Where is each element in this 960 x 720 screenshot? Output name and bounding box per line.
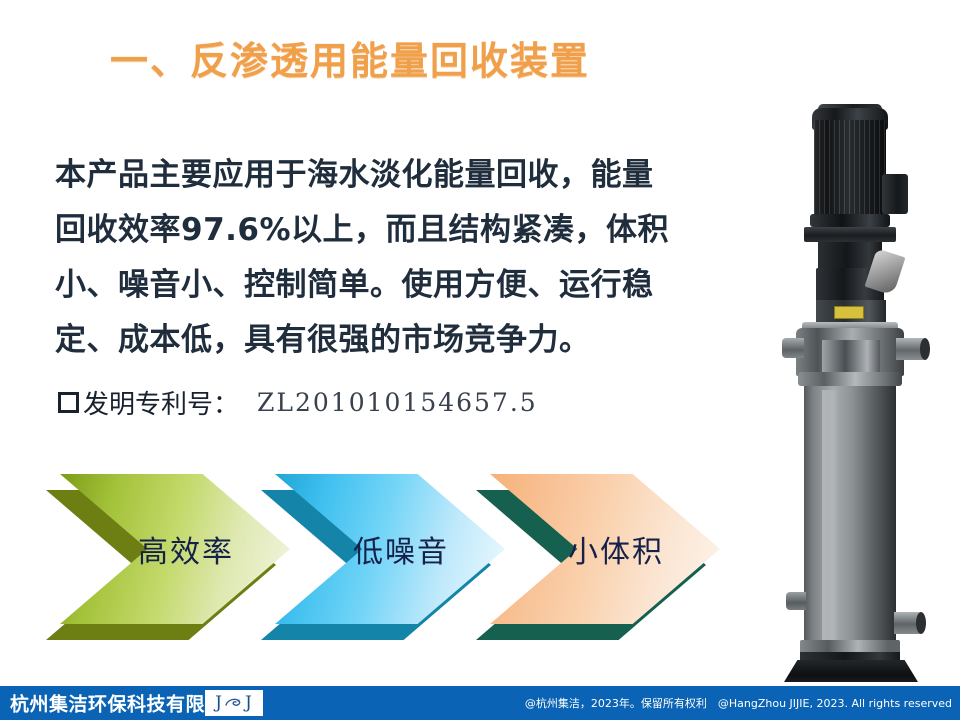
chevron-label: 小体积 — [568, 527, 664, 571]
footer-copyright: @杭州集洁，2023年。保留所有权利 @HangZhou JIJIE, 2023… — [525, 695, 952, 711]
page-title: 一、反渗透用能量回收装置 — [0, 30, 700, 85]
company-logo: J J — [205, 690, 263, 716]
product-photo-pump — [760, 100, 960, 660]
base-plate — [784, 660, 918, 682]
inlet-port-upper-left — [782, 338, 804, 358]
chevron-small-volume: 小体积 — [490, 474, 720, 624]
footer-bar: 杭州集洁环保科技有限公司 J J @杭州集洁，2023年。保留所有权利 @Han… — [0, 686, 960, 720]
square-bullet-icon — [58, 392, 79, 413]
patent-label: 发明专利号： — [83, 384, 239, 421]
logo-mark: J J — [215, 693, 253, 713]
patent-number-value: ZL201010154657.5 — [257, 388, 538, 417]
slide-root: 一、反渗透用能量回收装置 本产品主要应用于海水淡化能量回收，能量 回收效率97.… — [0, 0, 960, 720]
inlet-port-lower-left — [786, 592, 806, 610]
patent-number-row: 发明专利号： ZL201010154657.5 — [58, 384, 538, 421]
outlet-port-lower-right-opening — [916, 612, 926, 634]
motor-flange — [804, 227, 896, 242]
cylinder-highlight — [822, 390, 838, 652]
cylinder-top-flange — [798, 372, 902, 386]
cylinder-shell — [804, 386, 896, 656]
shaft-window — [822, 340, 880, 372]
body-line: 本产品主要应用于海水淡化能量回收，能量 — [55, 148, 695, 203]
feature-chevron-row: 高效率 低噪音 小体积 — [60, 474, 720, 644]
body-paragraph: 本产品主要应用于海水淡化能量回收，能量 回收效率97.6%以上，而且结构紧凑，体… — [55, 148, 695, 368]
logo-letter-right: J — [245, 693, 253, 713]
swirl-icon — [224, 696, 244, 710]
chevron-label: 低噪音 — [353, 527, 449, 571]
body-line: 定、成本低，具有很强的市场竞争力。 — [55, 313, 695, 368]
chevron-label: 高效率 — [138, 527, 234, 571]
chevron-low-noise: 低噪音 — [275, 474, 505, 624]
chevron-high-efficiency: 高效率 — [60, 474, 290, 624]
body-line: 小、噪音小、控制简单。使用方便、运行稳 — [55, 258, 695, 313]
motor-junction-box — [882, 174, 908, 214]
logo-letter-left: J — [215, 693, 223, 713]
nameplate-label — [834, 306, 864, 319]
motor-base-ring — [810, 214, 890, 227]
motor-cooling-fins — [814, 120, 886, 220]
body-line: 回收效率97.6%以上，而且结构紧凑，体积 — [55, 203, 695, 258]
outlet-port-upper-right-opening — [920, 338, 930, 360]
